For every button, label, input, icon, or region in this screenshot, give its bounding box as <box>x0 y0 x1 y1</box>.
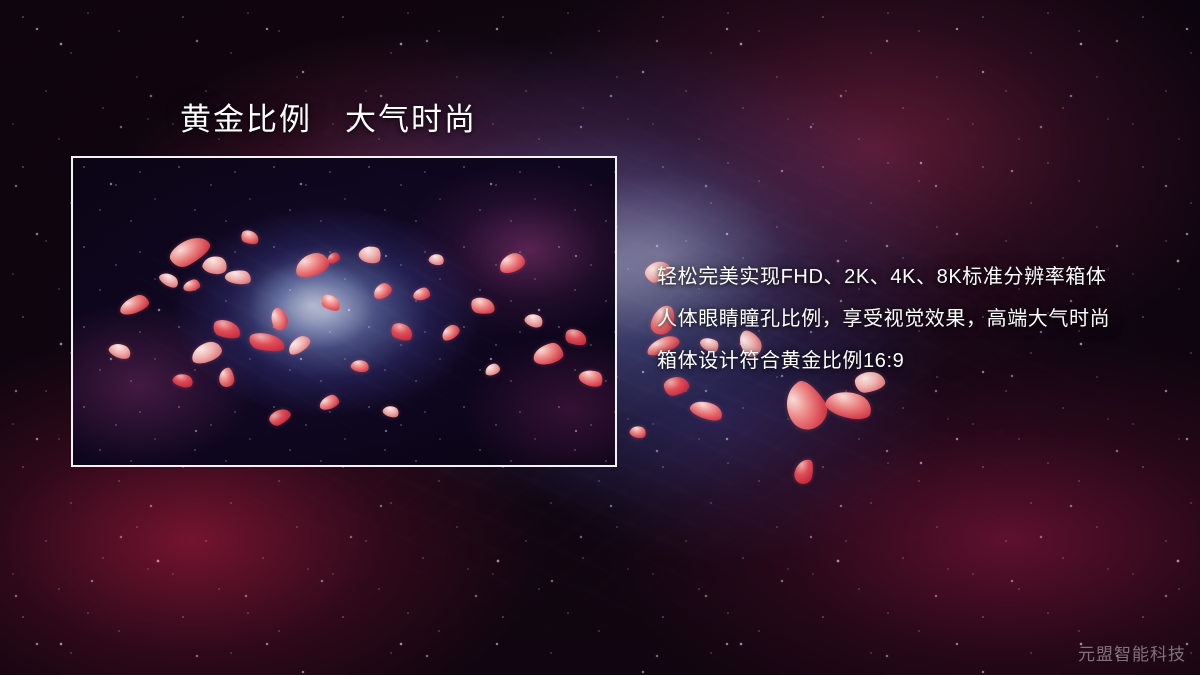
golden-ratio-preview-panel[interactable] <box>71 156 617 467</box>
watermark: 元盟智能科技 <box>1078 640 1186 665</box>
description-line-2: 人体眼睛瞳孔比例，享受视觉效果，高端大气时尚 <box>657 298 1177 340</box>
rose-petal <box>776 376 834 437</box>
rose-petal <box>628 424 647 441</box>
panel-core-glow <box>73 158 615 465</box>
description-line-1: 轻松完美实现FHD、2K、4K、8K标准分辨率箱体 <box>657 256 1177 298</box>
description-block: 轻松完美实现FHD、2K、4K、8K标准分辨率箱体 人体眼睛瞳孔比例，享受视觉效… <box>657 256 1177 382</box>
rose-petal <box>823 386 875 425</box>
description-line-3: 箱体设计符合黄金比例16:9 <box>657 340 1177 382</box>
rose-petal <box>688 396 725 424</box>
presentation-slide: 黄金比例 大气时尚 轻松完美实现FHD、2K、4K、8K标准分辨率箱体 人体眼睛… <box>0 0 1200 675</box>
rose-petal <box>793 457 816 485</box>
page-title: 黄金比例 大气时尚 <box>180 100 477 140</box>
